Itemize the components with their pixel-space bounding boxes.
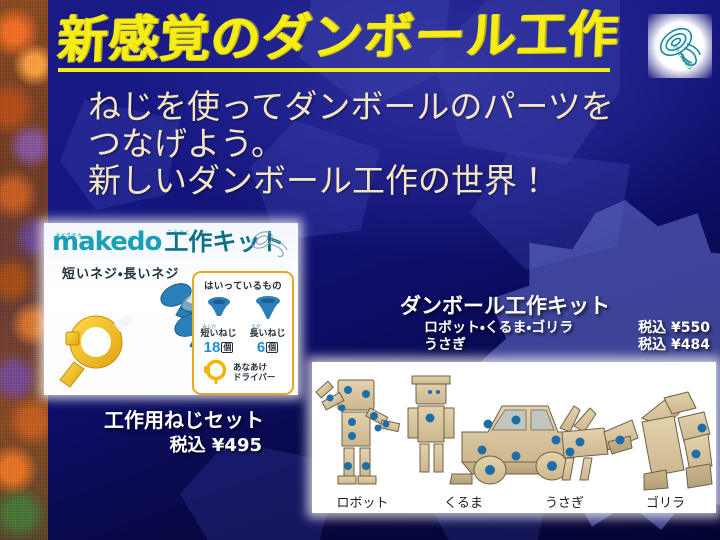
short-screw-furigana: みじか [203,324,217,330]
price-row: ロボット・くるま・ゴリラ 税込 ¥550 [424,320,710,337]
short-screw-icon [206,296,232,320]
included-items-row: みじか 短いねじ 18個 なが 長いねじ 6個 [194,296,292,355]
left-texture-strip [0,0,48,540]
screw-set-caption: 工作用ねじセット 税込 ¥495 [104,408,264,458]
slide-canvas: 新感覚のダンボール工作 makedo ねじを使ってダンボールのパーツを つなげよ… [0,0,720,540]
package-screw-illustration [246,227,292,257]
included-item-short-screw: みじか 短いねじ 18個 [196,296,242,355]
long-screw-unit: 個 [266,342,278,353]
cardboard-kit-heading: ダンボール工作キット [400,290,610,320]
long-screw-count-row: 6個 [245,340,291,355]
price-row-names: ロボット・くるま・ゴリラ [424,320,573,337]
model-captions: ロボット くるま うさぎ ゴリラ [312,492,716,511]
long-screw-count: 6 [257,339,265,356]
long-screw-icon [255,296,281,320]
package-kit-furigana: こうさく [166,223,190,247]
package-brand-furigana: メイクドゥ [55,223,82,249]
title-block: 新感覚のダンボール工作 [58,8,618,66]
hole-driver-label: あなあけ ドライバー [233,362,275,382]
short-screw-count: 18 [204,339,221,356]
short-screw-count-row: 18個 [196,340,242,355]
included-item-driver: あなあけ ドライバー [202,359,292,385]
price-row: うさぎ 税込 ¥484 [424,337,710,354]
model-caption-gorilla: ゴリラ [615,492,716,511]
title-underline [58,68,610,72]
price-row-names: うさぎ [424,337,466,354]
hole-driver-photo [54,308,140,388]
cardboard-models-photo: ロボット くるま うさぎ ゴリラ [312,362,716,513]
screw-set-package-photo: メイクドゥ makedo こうさく 工作キット 短いネジ・長いネジ [44,223,298,395]
body-text: ねじを使ってダンボールのパーツを つなげよう。 新しいダンボール工作の世界！ [88,88,698,199]
model-caption-rabbit: うさぎ [514,492,615,511]
cardboard-models-illustration [312,362,716,513]
price-row-price: 税込 ¥484 [638,337,710,354]
model-caption-robot: ロボット [312,492,413,511]
body-line-3: 新しいダンボール工作の世界！ [88,162,698,199]
makedo-logo-badge: makedo [648,14,712,78]
included-items-box: はいっているもの みじか 短いねじ 18個 [192,271,294,395]
body-line-2: つなげよう。 [88,125,698,162]
included-items-title: はいっているもの [194,278,292,292]
hole-driver-icon [202,359,228,385]
makedo-screw-icon: makedo [651,17,709,75]
page-title: 新感覚のダンボール工作 [57,5,620,69]
badge-wordmark: makedo [671,44,694,71]
body-line-1: ねじを使ってダンボールのパーツを [88,88,698,125]
included-item-long-screw: なが 長いねじ 6個 [245,296,291,355]
screw-set-name: 工作用ねじセット [104,408,264,432]
cardboard-kit-pricelist: ロボット・くるま・ゴリラ 税込 ¥550 うさぎ 税込 ¥484 [424,320,710,354]
hole-driver-label-line2: ドライバー [233,372,275,382]
short-screw-unit: 個 [221,342,233,353]
screw-set-price: 税込 ¥495 [104,433,264,458]
hole-driver-label-line1: あなあけ [233,362,275,372]
price-row-price: 税込 ¥550 [638,320,710,337]
package-brand: メイクドゥ makedo [52,229,161,255]
long-screw-furigana: なが [252,324,261,330]
model-caption-car: くるま [413,492,514,511]
